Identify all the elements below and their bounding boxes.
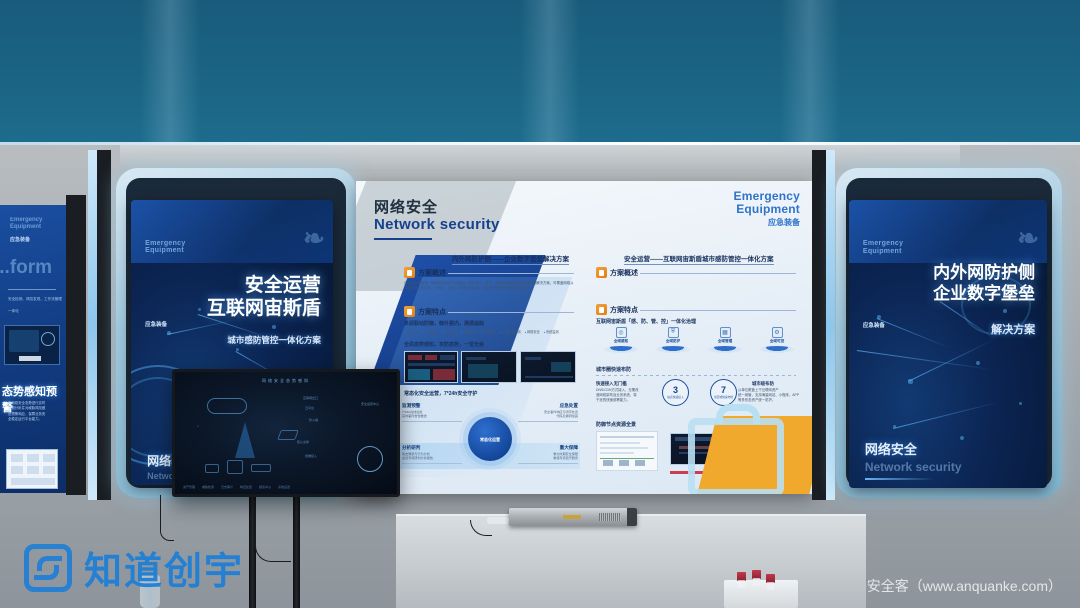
section-overview-right: 方案概述 bbox=[596, 267, 638, 278]
wall-light-strip-left bbox=[88, 150, 97, 500]
left-edge-line-2: 一体化 bbox=[8, 309, 19, 314]
brand-watermark-left: 知道创宇 bbox=[24, 540, 244, 595]
node-table-screenshot bbox=[596, 431, 658, 471]
monitor-dial-widget bbox=[357, 446, 383, 472]
right-column-heading: 安全运营——互联网宙斯盾城市感防管控一体化方案 bbox=[624, 253, 774, 265]
section-features-right: 方案特点 bbox=[596, 304, 638, 315]
left-poster-subtitle: 城市感防管控一体化方案 bbox=[227, 334, 321, 346]
monitor-screen-title: 网络安全态势感知 bbox=[262, 378, 310, 384]
poster-title-en: Network security bbox=[374, 216, 500, 233]
center-poster: 网络安全 Network security Emergency Equipmen… bbox=[356, 181, 812, 494]
red-capped-item-2 bbox=[752, 570, 761, 579]
monitor-screen: 网络安全态势感知 互联网出口 云平台 防火墙 核心交换 终端接入 安全运营中心 … bbox=[175, 372, 397, 494]
control-icon: ⚙ bbox=[772, 327, 783, 338]
wrench-watermark-art bbox=[668, 382, 812, 494]
features-subhead-left: 多层联动防御，御外要内，溯源追踪 bbox=[404, 320, 484, 327]
display-monitor[interactable]: 网络安全态势感知 互联网出口 云平台 防火墙 核心交换 终端接入 安全运营中心 … bbox=[172, 369, 400, 497]
poster-brand-en: Emergency Equipment bbox=[734, 190, 801, 217]
server-vent bbox=[599, 513, 621, 521]
red-capped-item-1 bbox=[737, 572, 746, 581]
ops-diagram: 常态化运营 监测预警 7*24h在线巡检 实时事件告警推送 应急处置 安全事件响… bbox=[400, 399, 580, 479]
overview-body-left: 企业数字堡垒是一款网络安全用户自适应、面向资产、业务、研判及溯源响应的纵深防御解… bbox=[404, 281, 576, 291]
deploy-left-title: 快速接入无门槛 bbox=[596, 381, 627, 387]
s-mark-logo-icon bbox=[24, 544, 72, 592]
ops-item-3: 重大保障 重大时期安全保障 重保专项值守服务 bbox=[518, 445, 578, 464]
deploy-subhead-right: 城市圈快速布防 bbox=[596, 366, 631, 373]
booth-canopy bbox=[0, 0, 1080, 150]
wall-gap-left-2 bbox=[97, 150, 111, 500]
wall-gap-right bbox=[812, 150, 826, 500]
dashboard-icon: ▦ bbox=[720, 327, 731, 338]
monitor-footer-menu[interactable]: 资产管理 威胁检测 日志审计 响应处置 报表中心 系统设置 bbox=[183, 485, 290, 489]
nodes-subhead-right: 防御节点资源全景 bbox=[596, 421, 636, 428]
ops-item-1: 应急处置 安全事件响应与闭环处置 代码及漏洞加固 bbox=[518, 403, 578, 422]
left-edge-panel: Emergency Equipment 应急装备 ...form 安全检测、风险… bbox=[0, 205, 66, 493]
rack-server-unit bbox=[509, 508, 637, 526]
booth-photo-scene: Emergency Equipment 应急装备 ...form 安全检测、风险… bbox=[0, 0, 1080, 608]
right-poster-footer-cn: 网络安全 bbox=[865, 439, 917, 458]
wall-light-strip-right bbox=[826, 150, 835, 500]
ops-item-2: 分析研判 攻击溯源与行为分析 出具专项研判分析报告 bbox=[402, 445, 462, 464]
left-edge-big-word: ...form bbox=[0, 257, 52, 279]
feature-pill-3: ⚙ 全域可控 bbox=[756, 327, 798, 353]
feature-pill-1: ⛨ 全域防护 bbox=[652, 327, 694, 353]
dashboard-screenshot-3 bbox=[520, 351, 576, 383]
dashboard-screenshot-1 bbox=[404, 351, 458, 383]
feature-pill-2: ▦ 全域管理 bbox=[704, 327, 746, 353]
poster-title-rule bbox=[374, 238, 432, 240]
poster-brand-cn: 应急装备 bbox=[768, 217, 800, 228]
tv-power-cable bbox=[160, 495, 174, 541]
ops-center-label: 常态化运营 bbox=[468, 417, 512, 461]
section-overview-left: 方案概述 bbox=[404, 267, 446, 278]
deploy-left-body: DNS/CDN方式接入，无需改 造网络架构及业务系统，零 干扰的快速部署能力。 bbox=[596, 388, 652, 403]
right-poster: Emergency Equipment 应急装备 ❧ 内外网防护侧 企业数字堡垒… bbox=[849, 200, 1047, 488]
ops-item-0: 监测预警 7*24h在线巡检 实时事件告警推送 bbox=[402, 403, 462, 422]
shield-icon: ⛨ bbox=[668, 327, 679, 338]
wall-gap-left bbox=[66, 195, 86, 495]
left-edge-screenshot bbox=[4, 325, 60, 365]
document-icon bbox=[404, 267, 415, 278]
dashboard-screenshot-2 bbox=[461, 351, 517, 383]
document-icon bbox=[596, 267, 607, 278]
section-features-left: 方案特点 bbox=[404, 306, 446, 317]
left-poster-title: 安全运营 互联网宙斯盾 bbox=[207, 274, 321, 320]
left-column-heading: 内外网防护侧——企业数字堡垒解决方案 bbox=[452, 253, 569, 265]
features-icon bbox=[404, 306, 415, 317]
feature-pill-0: ◎ 全域感知 bbox=[600, 327, 642, 353]
tv-cable bbox=[255, 500, 291, 562]
left-edge-grid-graphic bbox=[6, 449, 58, 489]
left-edge-brand-cn: 应急装备 bbox=[10, 236, 30, 243]
right-poster-footer-en: Network security bbox=[865, 460, 962, 474]
white-box-item bbox=[724, 580, 798, 608]
poster-title-cn: 网络安全 bbox=[374, 196, 438, 217]
left-edge-brand-en: Emergency Equipment bbox=[10, 217, 42, 231]
brand-watermark-text: 知道创宇 bbox=[84, 540, 244, 595]
situation-subhead-left: 全局态势感知，攻防态势，一览无余 bbox=[404, 341, 484, 348]
tv-stand-leg-right bbox=[293, 494, 300, 608]
source-watermark-right: 安全客（www.anquanke.com） bbox=[867, 576, 1062, 596]
server-indicator-light bbox=[563, 515, 581, 519]
features-bullets-left: 边界防护 终端管控 流量监测 威胁情报 攻防演练 主机安全检测 网络安全 系统监… bbox=[404, 329, 559, 334]
ops-subhead-left: 常态化安全运营，7*24h安全守护 bbox=[404, 390, 477, 397]
features-icon bbox=[596, 304, 607, 315]
server-end-cap bbox=[627, 508, 637, 526]
features-subhead-right: 互联网宙斯盾「感、防、管、控」一体化治理 bbox=[596, 318, 696, 325]
left-edge-line-1: 安全检测、风险发现、工作流管理 bbox=[8, 297, 62, 302]
red-capped-item-3 bbox=[766, 574, 775, 583]
left-edge-body: 对网络安全态势进行实时 监测分析并对威胁风险做 出预警响应，保障业务安 全稳定运… bbox=[8, 401, 45, 423]
radar-icon: ◎ bbox=[616, 327, 627, 338]
left-edge-rule bbox=[8, 289, 56, 290]
